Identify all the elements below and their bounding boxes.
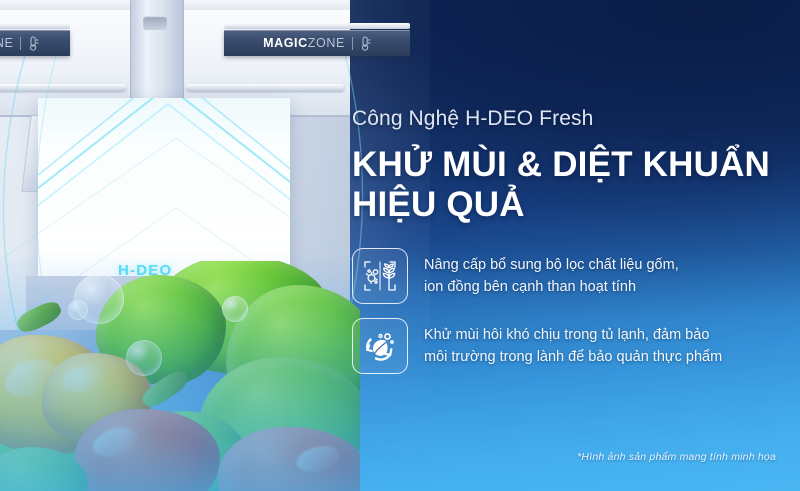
list-item-text: Nâng cấp bổ sung bộ lọc chất liệu gốm, i… [424,254,679,298]
eyebrow-text: Công Nghệ H-DEO Fresh [352,106,782,131]
feature-list: Nâng cấp bổ sung bộ lọc chất liệu gốm, i… [352,248,782,388]
feature-1-line-2: ion đồng bên cạnh than hoạt tính [424,279,636,295]
zone-rail-left [0,23,70,29]
list-item: Khử mùi hôi khó chịu trong tủ lạnh, đảm … [352,318,782,374]
magiczone-text-right: MAGICZONE [263,36,345,50]
fridge-handle-right [186,84,344,91]
magiczone-label-left: ONE [0,30,70,56]
zone-divider-right [352,37,353,50]
headline-line-2: HIỆU QUẢ [352,185,525,224]
zone-rail-right [224,23,410,29]
fridge-inner-panel [38,98,290,276]
headline-block: Công Nghệ H-DEO Fresh KHỬ MÙI & DIỆT KHU… [352,106,782,224]
headline-line-1: KHỬ MÙI & DIỆT KHUẨN [352,145,770,184]
fridge-hinge-button [143,16,167,30]
feature-2-line-1: Khử mùi hôi khó chịu trong tủ lạnh, đảm … [424,327,709,343]
thermometer-icon [28,36,39,51]
page-title: KHỬ MÙI & DIỆT KHUẨN HIỆU QUẢ [352,145,782,224]
leaf-air-circulation-icon [352,318,408,374]
magiczone-text-left: ONE [0,36,13,50]
feature-1-line-1: Nâng cấp bổ sung bộ lọc chất liệu gốm, [424,257,679,273]
zone-divider-left [20,37,21,50]
bacteria-plant-filter-icon [352,248,408,304]
disclaimer-text: *Hình ảnh sản phẩm mang tính minh họa [577,451,776,463]
panel-chevron-overlay [38,98,290,276]
promo-banner: H-DEO ONE MAGICZONE [0,0,800,491]
thermometer-icon [360,36,371,51]
feature-2-line-2: môi trường trong lành để bảo quản thực p… [424,349,722,365]
list-item-text: Khử mùi hôi khó chịu trong tủ lạnh, đảm … [424,324,722,368]
fridge-handle-left [0,84,126,91]
list-item: Nâng cấp bổ sung bộ lọc chất liệu gốm, i… [352,248,782,304]
magiczone-label-right: MAGICZONE [224,30,410,56]
